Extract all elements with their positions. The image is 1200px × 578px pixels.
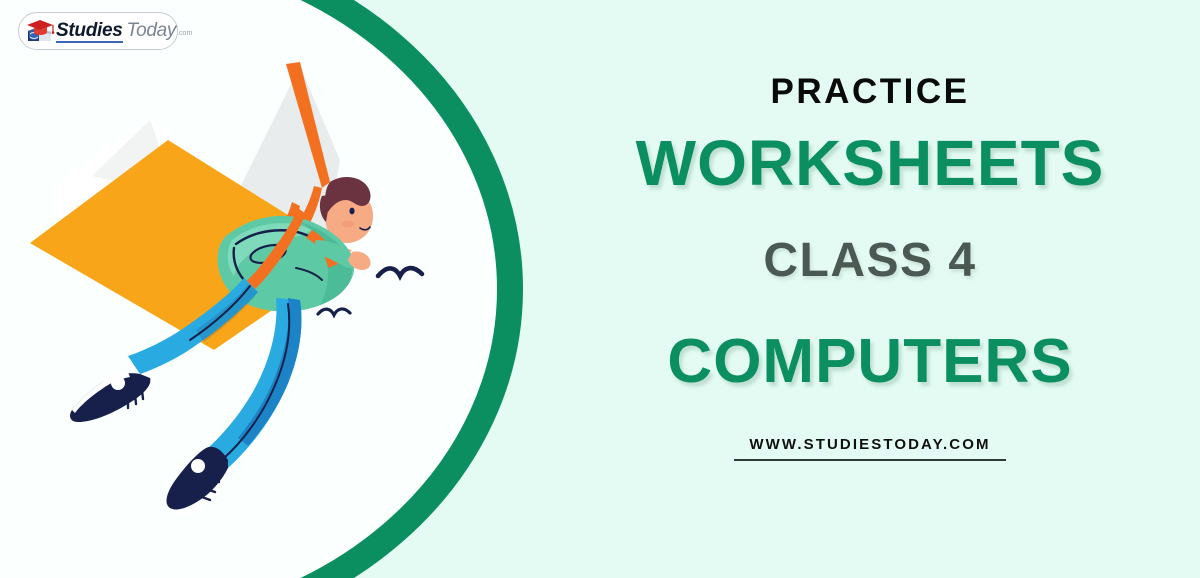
logo-brand-primary: Studies	[56, 21, 123, 43]
rear-shoe	[70, 372, 150, 422]
graduation-cap-book-icon	[25, 18, 55, 44]
website-block[interactable]: WWW.STUDIESTODAY.COM	[734, 437, 1006, 461]
title-worksheets: WORKSHEETS	[636, 131, 1105, 195]
class-line: CLASS 4	[763, 237, 976, 285]
website-underline	[734, 459, 1006, 461]
banner-root: Studies Today .com PRACTICE WORKSHEETS C…	[0, 0, 1200, 578]
eyebrow-practice: PRACTICE	[771, 74, 970, 109]
website-url[interactable]: WWW.STUDIESTODAY.COM	[734, 437, 1006, 459]
site-logo[interactable]: Studies Today .com	[18, 12, 178, 50]
subject-line: COMPUTERS	[667, 331, 1072, 393]
hang-glider-illustration	[0, 0, 470, 578]
bird-icon-2	[318, 309, 350, 315]
headline-block: PRACTICE WORKSHEETS CLASS 4 COMPUTERS WW…	[540, 0, 1200, 578]
front-shoe	[167, 447, 229, 515]
logo-brand-tld: .com	[177, 30, 192, 37]
bird-icon-1	[378, 268, 422, 276]
logo-brand-secondary: Today	[127, 21, 177, 40]
